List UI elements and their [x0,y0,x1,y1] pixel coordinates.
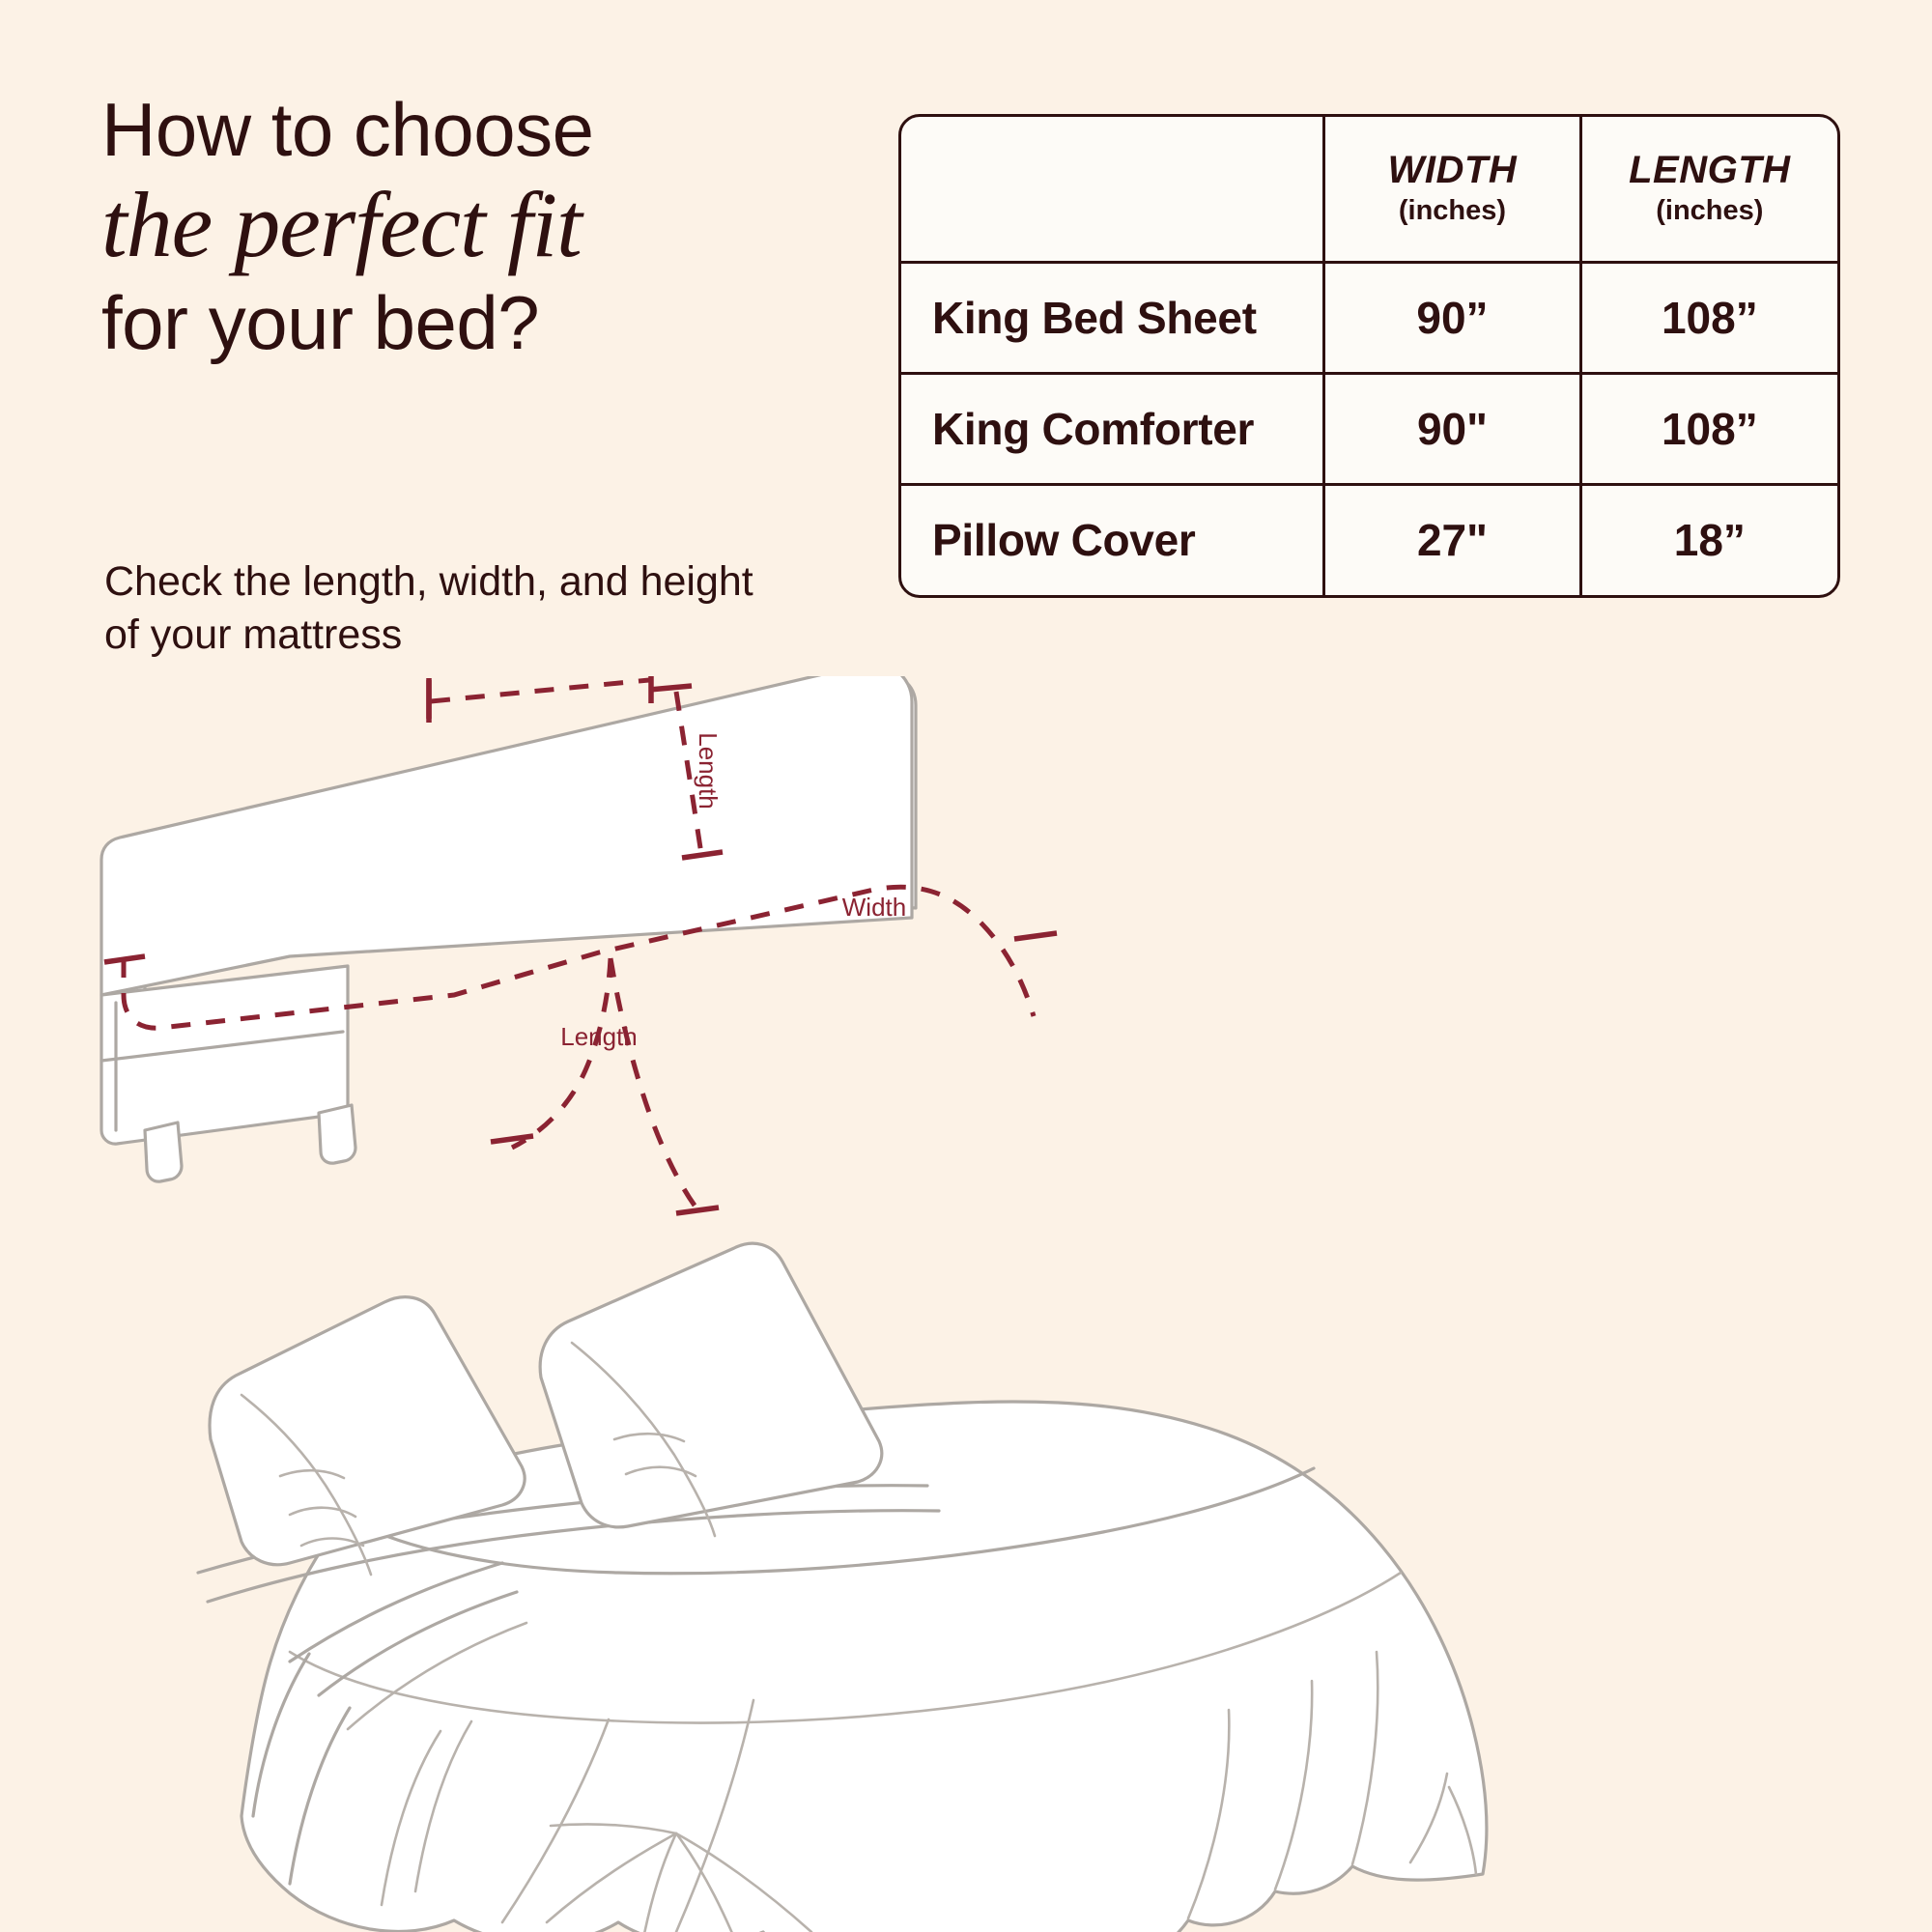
header-length-sub: (inches) [1582,194,1837,228]
headline-block: How to choose the perfect fit for your b… [101,92,836,360]
header-cell-blank [901,117,1324,262]
header-cell-width: WIDTH (inches) [1324,117,1580,262]
header-width-sub: (inches) [1325,194,1578,228]
row-width-king-bed-sheet: 90” [1324,262,1580,373]
table-row: Pillow Cover 27" 18” [901,484,1837,595]
pillow-length-label: Length [694,732,723,810]
table-row: King Comforter 90" 108” [901,373,1837,484]
headline-line-3: for your bed? [101,285,836,360]
header-cell-length: LENGTH (inches) [1580,117,1837,262]
row-length-king-comforter: 108” [1580,373,1837,484]
header-length-main: LENGTH [1582,150,1837,190]
row-length-pillow-cover: 18” [1580,484,1837,595]
header-width-main: WIDTH [1325,150,1578,190]
headline-line-1: How to choose [101,92,836,167]
row-width-king-comforter: 90" [1324,373,1580,484]
headline-line-2: the perfect fit [101,173,836,277]
size-chart-table: WIDTH (inches) LENGTH (inches) King Bed … [898,114,1840,598]
bed-length-label: Length [560,1022,638,1051]
row-width-pillow-cover: 27" [1324,484,1580,595]
table-row: King Bed Sheet 90” 108” [901,262,1837,373]
row-label-king-bed-sheet: King Bed Sheet [901,262,1324,373]
row-label-pillow-cover: Pillow Cover [901,484,1324,595]
subcopy-text: Check the length, width, and height of y… [104,555,781,662]
row-length-king-bed-sheet: 108” [1580,262,1837,373]
bed-illustration: .ln { fill:none; stroke:#ADA8A3; stroke-… [0,676,1932,1932]
bed-width-label: Width [842,893,906,922]
row-label-king-comforter: King Comforter [901,373,1324,484]
table-header-row: WIDTH (inches) LENGTH (inches) [901,117,1837,262]
